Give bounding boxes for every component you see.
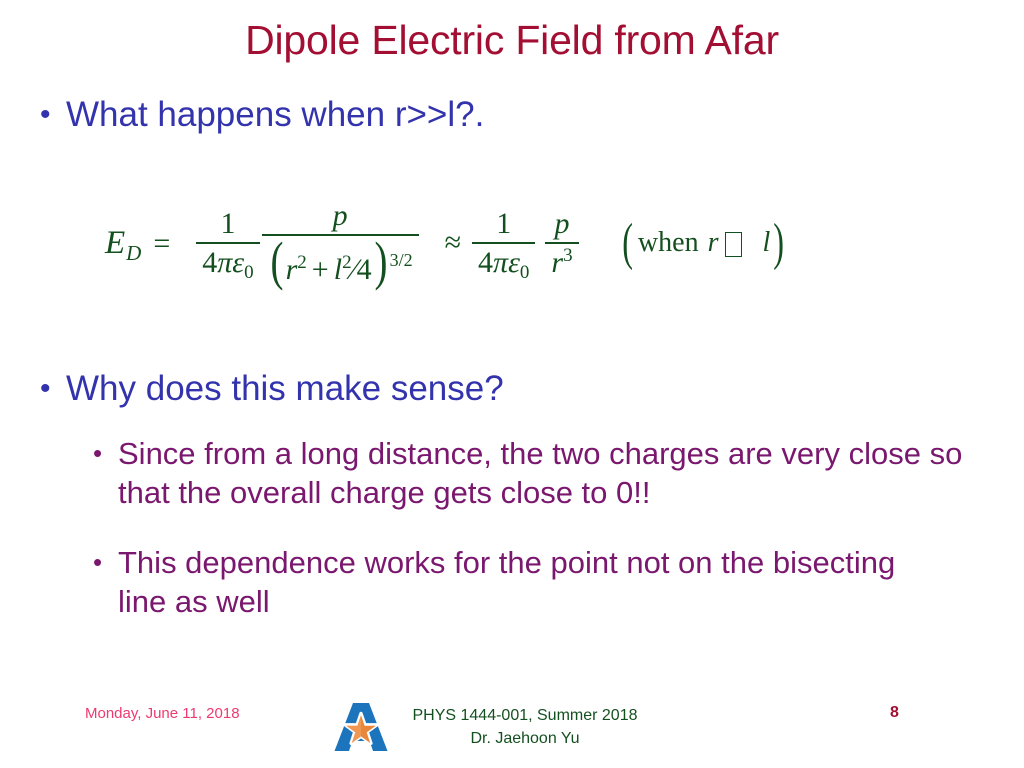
condition-var-r: r xyxy=(708,227,719,259)
equation-equals-sign: = xyxy=(153,227,170,261)
equation-term1-four: 4 xyxy=(357,253,372,286)
equation-term2-den-pi: π xyxy=(493,246,508,279)
equation-term2-den-epsilon: ε xyxy=(508,246,520,279)
condition-when-word: when xyxy=(638,227,699,259)
equation-symbol-E: E xyxy=(105,225,125,262)
bullet-item-what-happens: • What happens when r>>l?. xyxy=(30,93,990,136)
sub-bullet-dot-icon: • xyxy=(85,543,118,582)
footer-instructor-line: Dr. Jaehoon Yu xyxy=(360,727,690,750)
dipole-field-equation: ED = 1 4πε0 p (r2+l2⁄4)3/2 ≈ 1 4πε0 p r3… xyxy=(105,193,788,293)
condition-missing-glyph-icon xyxy=(725,232,742,257)
equation-term1-den-pi: π xyxy=(217,246,232,279)
equation-term2-denominator: 4πε0 xyxy=(472,242,535,278)
equation-term1-dipole-fraction: p (r2+l2⁄4)3/2 xyxy=(262,201,419,285)
equation-term1-den-four: 4 xyxy=(202,246,217,279)
condition-close-paren: ) xyxy=(774,223,785,264)
bullet-item-why-make-sense: • Why does this make sense? xyxy=(30,367,990,410)
footer-page-number: 8 xyxy=(890,704,899,722)
equation-plus-sign: + xyxy=(312,253,329,286)
bullet-dot-icon: • xyxy=(30,93,66,136)
bullet-dot-icon: • xyxy=(30,367,66,410)
equation-term2-numerator-one: 1 xyxy=(490,209,517,242)
condition-var-l: l xyxy=(762,227,770,259)
equation-term1-den-epsilon: ε xyxy=(232,246,244,279)
equation-term1-var-l: l xyxy=(334,253,342,286)
footer-course-line-1: PHYS 1444-001, Summer 2018 xyxy=(360,704,690,727)
slide-canvas: Dipole Electric Field from Afar • What h… xyxy=(0,0,1024,768)
equation-term1-coulomb-fraction: 1 4πε0 xyxy=(196,209,259,278)
equation-term1-denominator-bracket: (r2+l2⁄4)3/2 xyxy=(262,234,419,285)
condition-open-paren: ( xyxy=(622,223,633,264)
equation-term2-dipole-fraction: p r3 xyxy=(545,209,578,278)
sub-bullet-dot-icon: • xyxy=(85,434,118,473)
equation-term2-den-four: 4 xyxy=(478,246,493,279)
equation-term2-r-exponent: 3 xyxy=(563,245,573,266)
equation-term1-den-epsilon-sub: 0 xyxy=(244,262,254,283)
bullet-text-why-make-sense: Why does this make sense? xyxy=(66,367,990,410)
equation-term2-den-epsilon-sub: 0 xyxy=(520,262,530,283)
equation-lhs: ED = xyxy=(105,225,170,262)
footer-date: Monday, June 11, 2018 xyxy=(85,705,240,722)
equation-term1-denominator: 4πε0 xyxy=(196,242,259,278)
slide-title: Dipole Electric Field from Afar xyxy=(0,16,1024,64)
equation-term1-numerator-p: p xyxy=(327,201,354,234)
equation-term2-coulomb-fraction: 1 4πε0 xyxy=(472,209,535,278)
bullet-text-what-happens: What happens when r>>l?. xyxy=(66,93,990,136)
equation-term1-r-exponent: 2 xyxy=(297,252,307,273)
equation-condition-note: ( when r l ) xyxy=(619,223,788,264)
sub-bullet-item-charges-close: • Since from a long distance, the two ch… xyxy=(85,434,1015,512)
equation-term1-l-exponent: 2 xyxy=(342,252,352,273)
equation-term2-denominator-r-cubed: r3 xyxy=(545,242,578,278)
sub-bullet-text-dependence-works: This dependence works for the point not … xyxy=(118,543,945,621)
equation-term2-numerator-p: p xyxy=(549,209,576,242)
equation-term2-var-r: r xyxy=(551,246,563,279)
equation-term1-var-r: r xyxy=(286,253,298,286)
equation-approx-sign: ≈ xyxy=(445,226,461,260)
equation-term1-numerator-one: 1 xyxy=(214,209,241,242)
equation-open-paren: ( xyxy=(270,240,283,283)
footer-course-info: PHYS 1444-001, Summer 2018 Dr. Jaehoon Y… xyxy=(360,704,690,750)
sub-bullet-item-dependence-works: • This dependence works for the point no… xyxy=(85,543,945,621)
equation-subscript-D: D xyxy=(126,241,141,266)
sub-bullet-text-charges-close: Since from a long distance, the two char… xyxy=(118,434,1015,512)
equation-term1-power-three-halves: 3/2 xyxy=(390,250,413,270)
equation-close-paren: ) xyxy=(374,240,387,283)
